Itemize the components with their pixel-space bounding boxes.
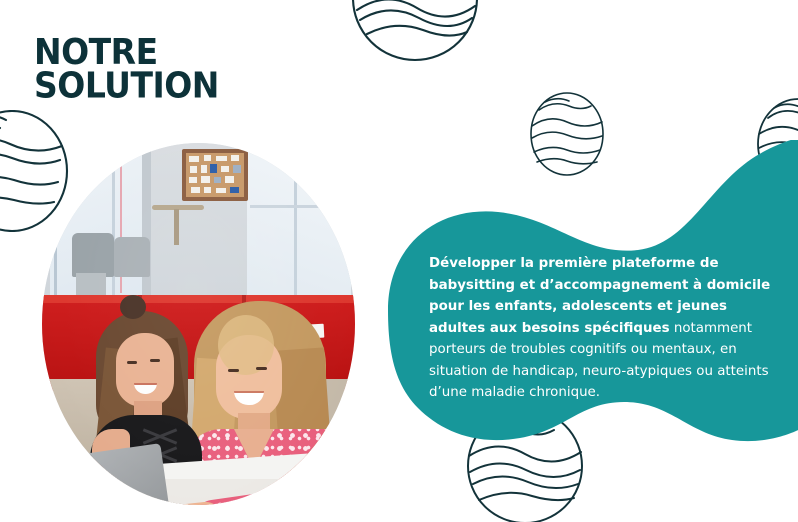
solution-description: Développer la première plateforme de bab… — [429, 253, 781, 404]
photo-two-women-laptop — [42, 143, 355, 505]
page-title: NOTRE SOLUTION — [34, 36, 219, 102]
page-title-line-2: SOLUTION — [34, 69, 219, 101]
globe-line-art-top-icon — [351, 0, 479, 62]
photo-color-grade — [42, 143, 355, 505]
slide-canvas: NOTRE SOLUTION — [0, 0, 798, 522]
